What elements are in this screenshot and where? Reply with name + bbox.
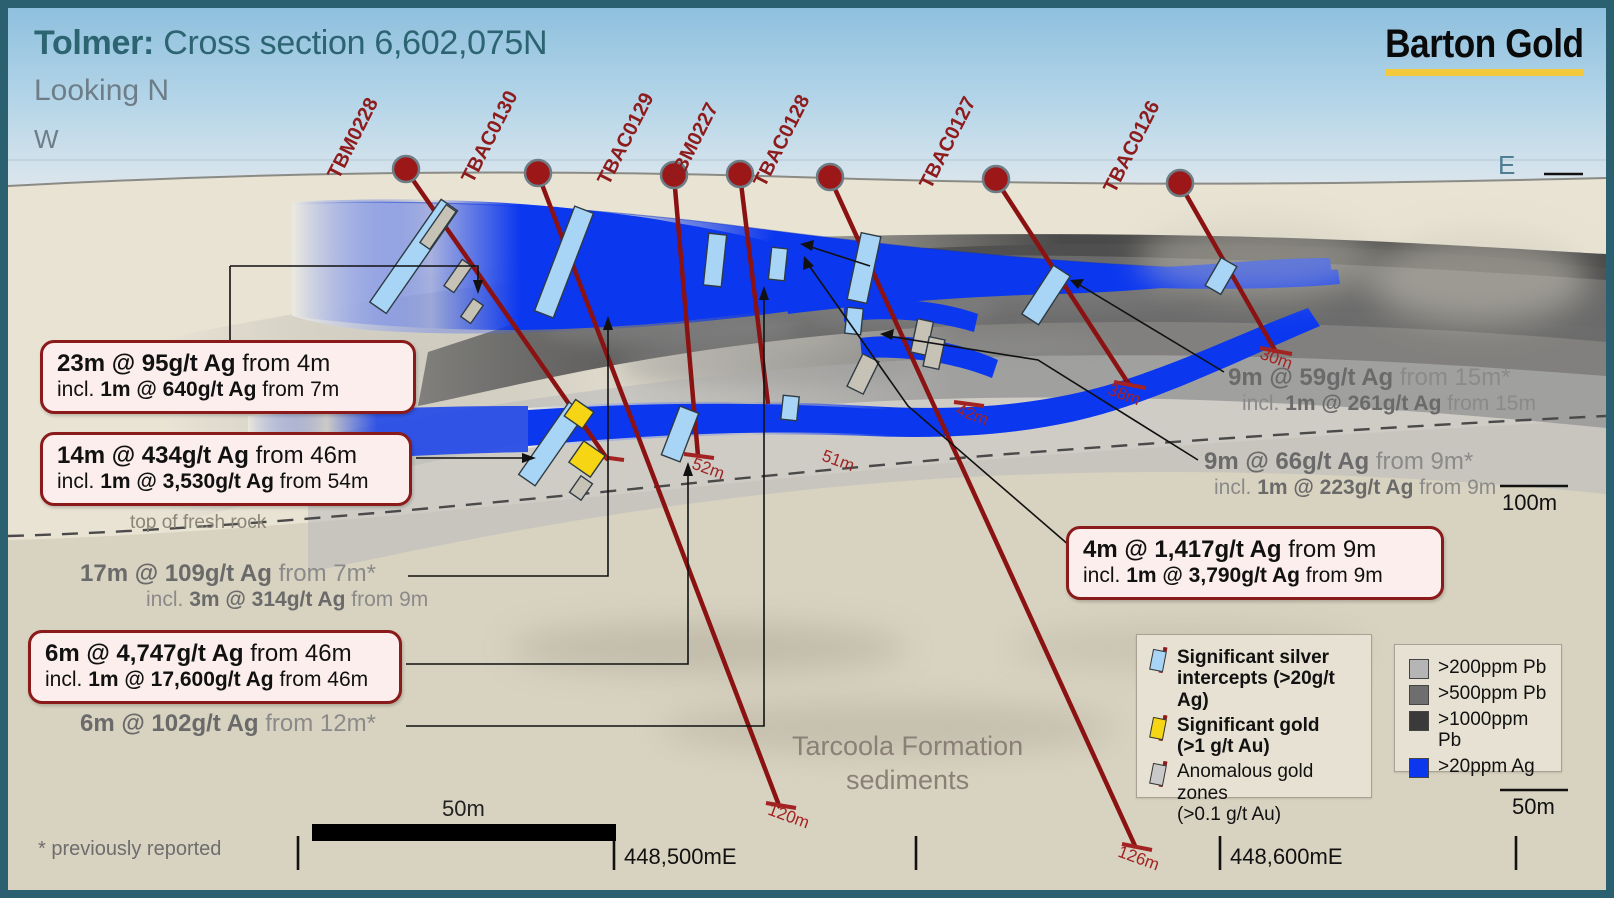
callout-3-line1-bold: 17m @ 109g/t Ag: [80, 560, 272, 587]
callout-3-line2-bold: 3m @ 314g/t Ag: [189, 588, 345, 611]
callout-7-line2-bold: 1m @ 223g/t Ag: [1257, 476, 1413, 499]
easting-label-2: 448,600mE: [1230, 844, 1343, 870]
callout-2-line2-bold: 1m @ 3,530g/t Ag: [100, 470, 274, 493]
callout-5-line1-rest: from 12m*: [259, 710, 376, 737]
callout-4-line1-rest: from 46m: [244, 640, 352, 667]
legend-silver-line1: Significant silver: [1177, 647, 1329, 668]
callout-8-line2-rest: from 9m: [1300, 564, 1383, 587]
swatch-20ppm-ag: [1409, 758, 1429, 778]
callout-1-line2-bold: 1m @ 640g/t Ag: [100, 378, 256, 401]
legend-grade-20ppm-ag: >20ppm Ag: [1409, 756, 1551, 778]
callout-1-line2-rest: from 7m: [256, 378, 339, 401]
legend-anomalous-line2: (>0.1 g/t Au): [1177, 804, 1281, 825]
brand-logo: Barton Gold: [1358, 22, 1584, 76]
callout-7-line1-rest: from 9m*: [1369, 448, 1473, 475]
figure-canvas: Tolmer: Cross section 6,602,075N Looking…: [8, 8, 1606, 890]
callout-box-1: 23m @ 95g/t Ag from 4m incl. 1m @ 640g/t…: [40, 340, 416, 414]
callout-4-line2-rest: from 46m: [274, 668, 369, 691]
swatch-200ppm-pb: [1409, 659, 1429, 679]
callout-3-line2-lead: incl.: [146, 588, 189, 611]
formation-line-2: sediments: [792, 764, 1023, 798]
callout-box-2: 14m @ 434g/t Ag from 46m incl. 1m @ 3,53…: [40, 432, 412, 506]
scale-bar: [312, 824, 616, 841]
legend-grade-200ppm-pb: >200ppm Pb: [1409, 657, 1551, 679]
callout-1-line2-lead: incl.: [57, 378, 100, 401]
callout-2-line1-bold: 14m @ 434g/t Ag: [57, 442, 249, 469]
callout-6-line2-lead: incl.: [1242, 392, 1285, 415]
title-rest: Cross section 6,602,075N: [154, 24, 547, 62]
legend-item-anomalous: Anomalous gold zones (>0.1 g/t Au): [1149, 761, 1361, 825]
callout-text-7: 9m @ 66g/t Ag from 9m* incl. 1m @ 223g/t…: [1204, 448, 1496, 501]
fresh-rock-label: top of fresh rock: [130, 512, 266, 534]
west-label: W: [34, 124, 59, 155]
silver-intercept-icon: [1149, 647, 1169, 673]
callout-6-line2-bold: 1m @ 261g/t Ag: [1285, 392, 1441, 415]
subtitle: Looking N: [34, 74, 169, 108]
callout-4-line1-bold: 6m @ 4,747g/t Ag: [45, 640, 244, 667]
callout-4-line2-lead: incl.: [45, 668, 88, 691]
legend-grade-500ppm-pb: >500ppm Pb: [1409, 683, 1551, 705]
callout-6-line2-rest: from 15m: [1441, 392, 1536, 415]
callout-5-line1-bold: 6m @ 102g/t Ag: [80, 710, 259, 737]
formation-label: Tarcoola Formation sediments: [792, 730, 1023, 798]
callout-6-line1-rest: from 15m*: [1393, 364, 1510, 391]
brand-name: Barton Gold: [1385, 22, 1584, 67]
callout-2-line1-rest: from 46m: [249, 442, 357, 469]
callout-8-line1-bold: 4m @ 1,417g/t Ag: [1083, 536, 1282, 563]
legend-grade-1000ppm-pb: >1000ppm Pb: [1409, 709, 1551, 752]
swatch-1000ppm-pb: [1409, 711, 1429, 731]
callout-text-3: 17m @ 109g/t Ag from 7m* incl. 3m @ 314g…: [80, 560, 428, 613]
callout-text-6: 9m @ 59g/t Ag from 15m* incl. 1m @ 261g/…: [1228, 364, 1536, 417]
legend-gold-line1: Significant gold: [1177, 715, 1320, 736]
legend-grade-label-2: >1000ppm Pb: [1438, 709, 1551, 752]
title-bold: Tolmer:: [34, 24, 154, 62]
elevation-label-50m: 50m: [1512, 794, 1555, 820]
cross-section-figure: Tolmer: Cross section 6,602,075N Looking…: [0, 0, 1614, 898]
callout-8-line1-rest: from 9m: [1282, 536, 1377, 563]
swatch-500ppm-pb: [1409, 685, 1429, 705]
scale-bar-label: 50m: [442, 796, 485, 822]
callout-text-5: 6m @ 102g/t Ag from 12m*: [80, 710, 376, 738]
brand-underline: [1386, 69, 1584, 76]
callout-2-line2-rest: from 54m: [274, 470, 369, 493]
east-label: E: [1498, 150, 1515, 181]
legend-item-gold: Significant gold (>1 g/t Au): [1149, 715, 1361, 758]
easting-label-1: 448,500mE: [624, 844, 737, 870]
callout-3-line2-rest: from 9m: [345, 588, 428, 611]
page-title: Tolmer: Cross section 6,602,075N: [34, 24, 547, 63]
callout-1-line1-bold: 23m @ 95g/t Ag: [57, 350, 236, 377]
legend-grade-label-0: >200ppm Pb: [1438, 657, 1546, 678]
gold-intercept-icon: [1149, 715, 1169, 741]
callout-7-line1-bold: 9m @ 66g/t Ag: [1204, 448, 1369, 475]
legend-grades: >200ppm Pb >500ppm Pb >1000ppm Pb >20ppm…: [1394, 644, 1562, 772]
legend-grade-label-3: >20ppm Ag: [1438, 756, 1535, 777]
callout-7-line2-rest: from 9m: [1413, 476, 1496, 499]
legend-symbols: Significant silver intercepts (>20g/t Ag…: [1136, 634, 1372, 798]
callout-7-line2-lead: incl.: [1214, 476, 1257, 499]
callout-1-line1-rest: from 4m: [236, 350, 331, 377]
elevation-label-100m: 100m: [1502, 490, 1557, 516]
legend-anomalous-line1: Anomalous gold zones: [1177, 761, 1313, 803]
callout-3-line1-rest: from 7m*: [272, 560, 376, 587]
legend-item-silver: Significant silver intercepts (>20g/t Ag…: [1149, 647, 1361, 711]
callout-4-line2-bold: 1m @ 17,600g/t Ag: [88, 668, 273, 691]
legend-silver-line2: intercepts (>20g/t Ag): [1177, 668, 1335, 710]
callout-8-line2-bold: 1m @ 3,790g/t Ag: [1126, 564, 1300, 587]
legend-grade-label-1: >500ppm Pb: [1438, 683, 1546, 704]
legend-gold-line2: (>1 g/t Au): [1177, 736, 1270, 757]
formation-line-1: Tarcoola Formation: [792, 730, 1023, 764]
callout-6-line1-bold: 9m @ 59g/t Ag: [1228, 364, 1393, 391]
callout-2-line2-lead: incl.: [57, 470, 100, 493]
callout-box-4: 6m @ 4,747g/t Ag from 46m incl. 1m @ 17,…: [28, 630, 402, 704]
footnote: * previously reported: [38, 838, 221, 861]
callout-8-line2-lead: incl.: [1083, 564, 1126, 587]
anomalous-gold-icon: [1149, 761, 1169, 787]
callout-box-8: 4m @ 1,417g/t Ag from 9m incl. 1m @ 3,79…: [1066, 526, 1444, 600]
